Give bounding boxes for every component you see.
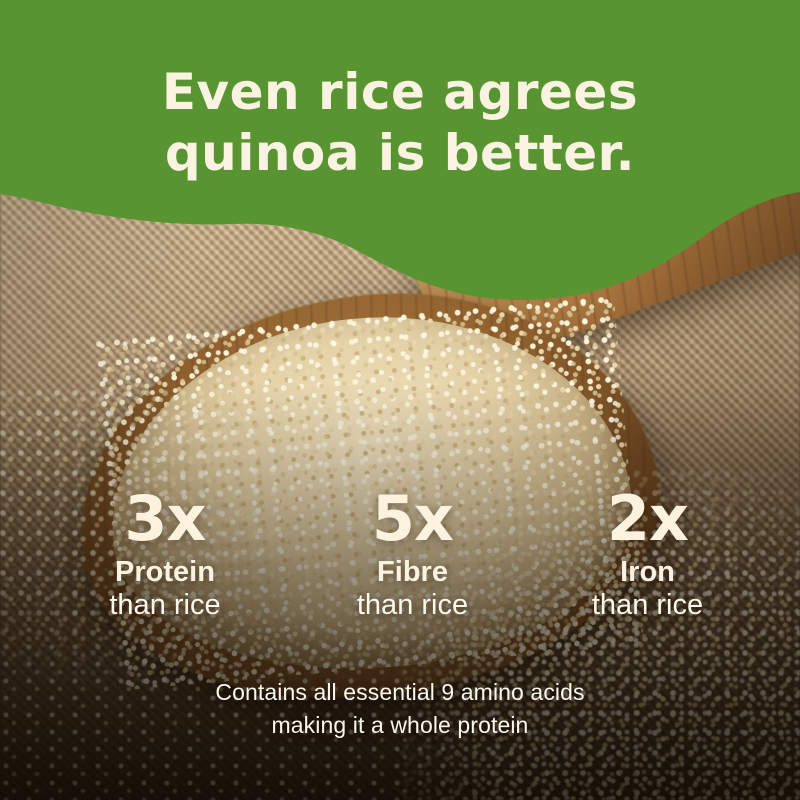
stat-comparison-fibre: than rice — [290, 589, 535, 622]
quinoa-infographic-poster: Even rice agrees quinoa is better. 3x Pr… — [0, 0, 800, 800]
stat-block-fibre: 5x Fibre than rice — [290, 490, 535, 622]
stat-nutrient-iron: Iron — [535, 555, 760, 589]
stat-comparison-iron: than rice — [535, 589, 760, 622]
page-title: Even rice agrees quinoa is better. — [0, 62, 800, 184]
stat-value-iron: 2x — [535, 490, 760, 549]
stat-block-iron: 2x Iron than rice — [535, 490, 760, 622]
headline-line-1: Even rice agrees — [0, 62, 800, 123]
stat-value-fibre: 5x — [290, 490, 535, 549]
caption-line-2: making it a whole protein — [0, 709, 800, 742]
stat-block-protein: 3x Protein than rice — [40, 490, 290, 622]
headline-line-2: quinoa is better. — [0, 123, 800, 184]
stat-nutrient-fibre: Fibre — [290, 555, 535, 589]
stat-nutrient-protein: Protein — [40, 555, 290, 589]
stat-value-protein: 3x — [40, 490, 290, 549]
caption-line-1: Contains all essential 9 amino acids — [0, 676, 800, 709]
nutrition-stats-row: 3x Protein than rice 5x Fibre than rice … — [0, 490, 800, 622]
footer-caption: Contains all essential 9 amino acids mak… — [0, 676, 800, 741]
stat-comparison-protein: than rice — [40, 589, 290, 622]
